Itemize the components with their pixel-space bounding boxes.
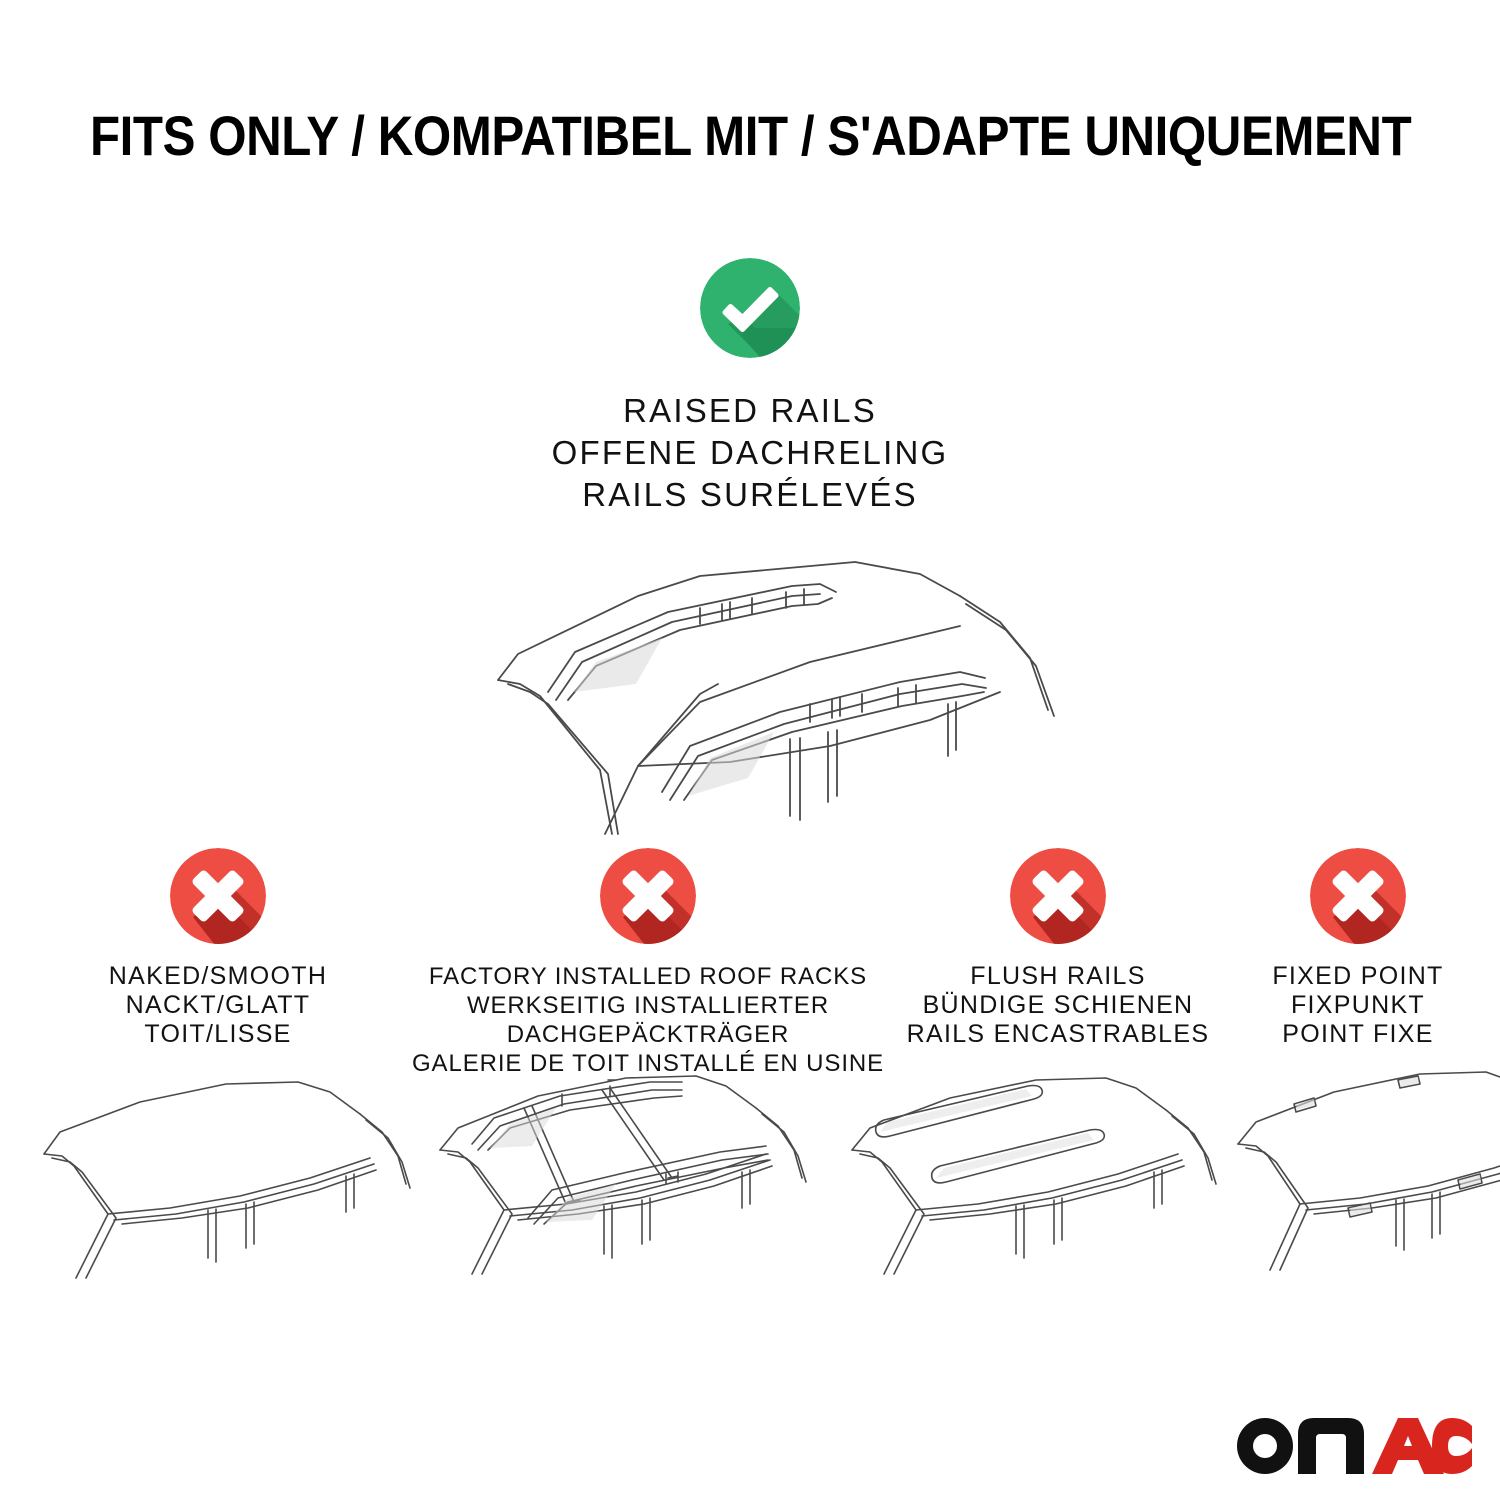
label-line-en: FACTORY INSTALLED ROOF RACKS xyxy=(412,962,884,991)
page-title: FITS ONLY / KOMPATIBEL MIT / S'ADAPTE UN… xyxy=(90,103,1410,168)
label-line-fr: RAILS ENCASTRABLES xyxy=(907,1020,1210,1049)
label-line-de-1: WERKSEITIG INSTALLIERTER xyxy=(412,991,884,1020)
incompatible-label-naked-smooth: NAKED/SMOOTH NACKT/GLATT TOIT/LISSE xyxy=(109,962,327,1049)
incompatible-item-flush-rails: FLUSH RAILS BÜNDIGE SCHIENEN RAILS ENCAS… xyxy=(888,848,1228,1049)
incompatible-item-naked-smooth: NAKED/SMOOTH NACKT/GLATT TOIT/LISSE xyxy=(18,848,418,1049)
incompatible-illustrations-row xyxy=(0,1062,1500,1312)
incompatible-item-fixed-point: FIXED POINT FIXPUNKT POINT FIXE xyxy=(1228,848,1488,1049)
car-roof-factory-racks-illustration xyxy=(420,1062,840,1312)
label-line-de: BÜNDIGE SCHIENEN xyxy=(907,991,1210,1020)
car-roof-raised-rails-illustration xyxy=(400,534,1100,854)
compatible-label-line-de: OFFENE DACHRELING xyxy=(552,432,949,474)
x-circle-icon xyxy=(600,848,696,944)
label-line-de: NACKT/GLATT xyxy=(109,991,327,1020)
check-circle-icon xyxy=(700,258,800,358)
label-line-de: FIXPUNKT xyxy=(1272,991,1443,1020)
label-line-en: FIXED POINT xyxy=(1272,962,1443,991)
label-line-de-2: DACHGEPÄCKTRÄGER xyxy=(412,1020,884,1049)
label-line-fr: TOIT/LISSE xyxy=(109,1020,327,1049)
car-roof-naked-smooth-illustration xyxy=(30,1062,430,1312)
compatible-label: RAISED RAILS OFFENE DACHRELING RAILS SUR… xyxy=(552,390,949,516)
label-line-fr: POINT FIXE xyxy=(1272,1020,1443,1049)
car-roof-fixed-point-illustration xyxy=(1230,1062,1500,1312)
incompatible-label-flush-rails: FLUSH RAILS BÜNDIGE SCHIENEN RAILS ENCAS… xyxy=(907,962,1210,1049)
label-line-en: FLUSH RAILS xyxy=(907,962,1210,991)
omac-logo xyxy=(1232,1404,1472,1476)
compatible-label-line-fr: RAILS SURÉLEVÉS xyxy=(552,474,949,516)
compatible-section: RAISED RAILS OFFENE DACHRELING RAILS SUR… xyxy=(0,258,1500,854)
car-roof-flush-rails-illustration xyxy=(840,1062,1230,1312)
x-circle-icon xyxy=(170,848,266,944)
x-circle-icon xyxy=(1010,848,1106,944)
x-circle-icon xyxy=(1310,848,1406,944)
incompatible-item-factory-racks: FACTORY INSTALLED ROOF RACKS WERKSEITIG … xyxy=(418,848,878,1078)
label-line-en: NAKED/SMOOTH xyxy=(109,962,327,991)
incompatible-section: NAKED/SMOOTH NACKT/GLATT TOIT/LISSE FACT… xyxy=(0,848,1500,1078)
incompatible-label-factory-racks: FACTORY INSTALLED ROOF RACKS WERKSEITIG … xyxy=(412,962,884,1078)
incompatible-label-fixed-point: FIXED POINT FIXPUNKT POINT FIXE xyxy=(1272,962,1443,1049)
compatible-label-line-en: RAISED RAILS xyxy=(552,390,949,432)
